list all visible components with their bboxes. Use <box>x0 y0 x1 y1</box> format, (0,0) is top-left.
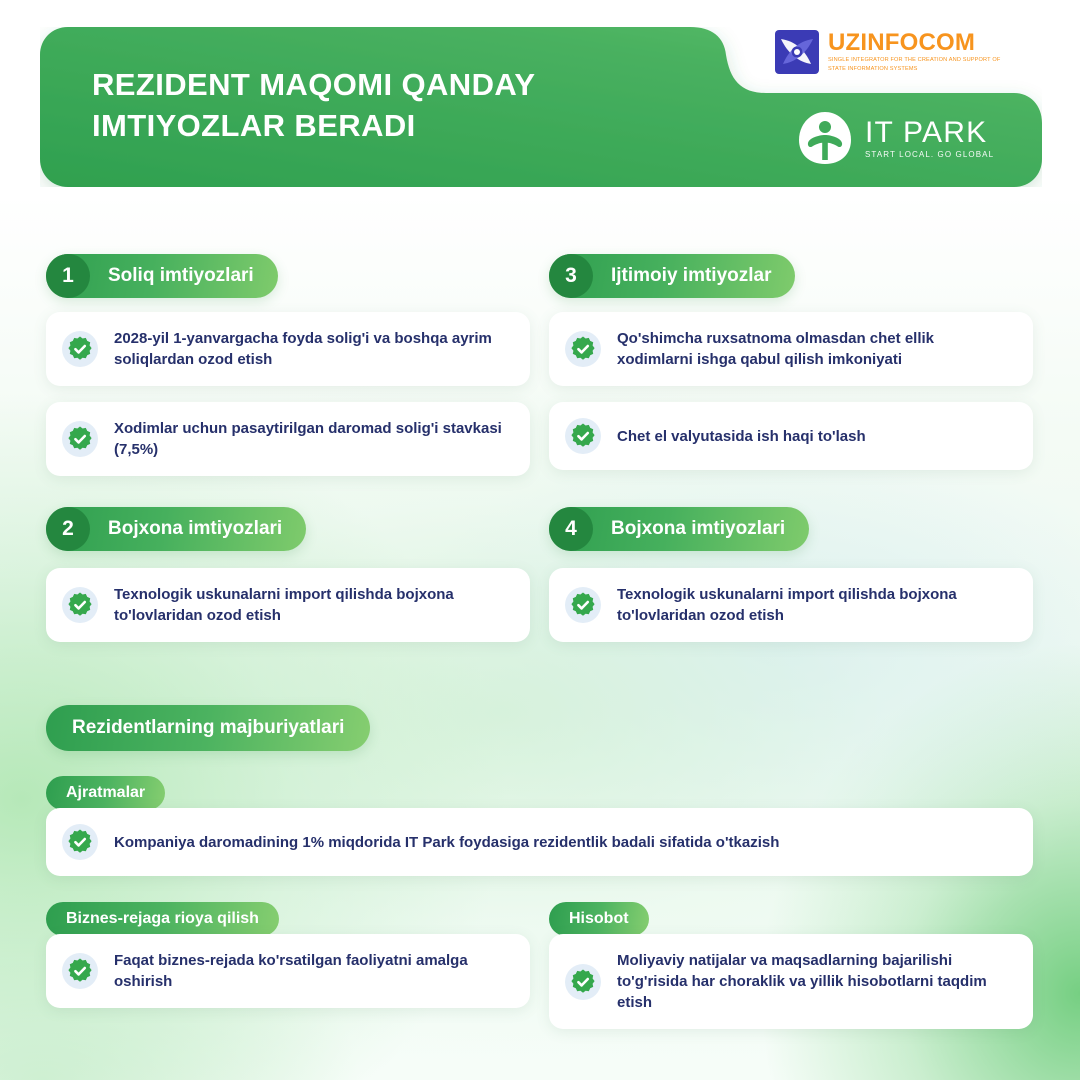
itpark-tagline: START LOCAL. GO GLOBAL <box>865 150 994 159</box>
benefit-card-4-1[interactable]: Texnologik uskunalarni import qilishda b… <box>549 568 1033 642</box>
section-pill-4[interactable]: 4 Bojxona imtiyozlari <box>549 507 809 551</box>
benefit-item-text: Chet el valyutasida ish haqi to'lash <box>617 426 866 447</box>
itpark-logo: IT PARK START LOCAL. GO GLOBAL <box>797 110 994 166</box>
obligation-group-1-label[interactable]: Ajratmalar <box>46 776 165 810</box>
benefit-item-text: Texnologik uskunalarni import qilishda b… <box>617 584 1013 626</box>
uzinfocom-logo: UZINFOCOM SINGLE INTEGRATOR FOR THE CREA… <box>775 30 1003 74</box>
obligation-group-3-label[interactable]: Hisobot <box>549 902 649 936</box>
obligation-item-text: Moliyaviy natijalar va maqsadlarning baj… <box>617 950 1013 1013</box>
benefit-item-text: Xodimlar uchun pasaytirilgan daromad sol… <box>114 418 510 460</box>
check-badge-icon <box>62 421 98 457</box>
benefit-section-1-header: 1 Soliq imtiyozlari <box>46 254 530 298</box>
benefit-section-4-header: 4 Bojxona imtiyozlari <box>549 507 1033 551</box>
itpark-mark-icon <box>797 110 853 166</box>
benefit-card-3-2[interactable]: Chet el valyutasida ish haqi to'lash <box>549 402 1033 470</box>
section-pill-1[interactable]: 1 Soliq imtiyozlari <box>46 254 278 298</box>
section-pill-2[interactable]: 2 Bojxona imtiyozlari <box>46 507 306 551</box>
check-badge-icon <box>565 587 601 623</box>
itpark-wordmark: IT PARK <box>865 117 994 149</box>
benefit-item-text: Texnologik uskunalarni import qilishda b… <box>114 584 510 626</box>
obligations-heading[interactable]: Rezidentlarning majburiyatlari <box>46 705 370 751</box>
benefit-card-2-1[interactable]: Texnologik uskunalarni import qilishda b… <box>46 568 530 642</box>
obligation-item-text: Kompaniya daromadining 1% miqdorida IT P… <box>114 832 779 853</box>
check-badge-icon <box>62 331 98 367</box>
uzinfocom-wordmark: UZINFOCOM <box>828 31 1003 55</box>
obligation-group-3-label-wrap: Hisobot <box>549 902 649 936</box>
section-title-1: Soliq imtiyozlari <box>90 265 254 287</box>
benefit-item-text: 2028-yil 1-yanvargacha foyda solig'i va … <box>114 328 510 370</box>
uzinfocom-mark-icon <box>775 30 819 74</box>
benefit-card-1-2[interactable]: Xodimlar uchun pasaytirilgan daromad sol… <box>46 402 530 476</box>
check-badge-icon <box>565 331 601 367</box>
section-title-4: Bojxona imtiyozlari <box>593 518 785 540</box>
obligations-heading-wrap: Rezidentlarning majburiyatlari <box>46 705 370 751</box>
obligation-group-2-label-wrap: Biznes-rejaga rioya qilish <box>46 902 279 936</box>
obligation-card-2[interactable]: Faqat biznes-rejada ko'rsatilgan faoliya… <box>46 934 530 1008</box>
check-badge-icon <box>565 964 601 1000</box>
benefit-section-3-header: 3 Ijtimoiy imtiyozlar <box>549 254 1033 298</box>
section-title-3: Ijtimoiy imtiyozlar <box>593 265 771 287</box>
section-number-2: 2 <box>46 507 90 551</box>
obligation-group-2-label[interactable]: Biznes-rejaga rioya qilish <box>46 902 279 936</box>
section-title-2: Bojxona imtiyozlari <box>90 518 282 540</box>
benefit-section-2-header: 2 Bojxona imtiyozlari <box>46 507 530 551</box>
benefit-item-text: Qo'shimcha ruxsatnoma olmasdan chet elli… <box>617 328 1013 370</box>
check-badge-icon <box>62 953 98 989</box>
obligation-item-text: Faqat biznes-rejada ko'rsatilgan faoliya… <box>114 950 510 992</box>
obligation-card-3[interactable]: Moliyaviy natijalar va maqsadlarning baj… <box>549 934 1033 1029</box>
check-badge-icon <box>62 587 98 623</box>
check-badge-icon <box>62 824 98 860</box>
uzinfocom-tagline: SINGLE INTEGRATOR FOR THE CREATION AND S… <box>828 56 1003 72</box>
page-title-line-2: IMTIYOZLAR BERADI <box>92 106 692 147</box>
benefit-card-1-1[interactable]: 2028-yil 1-yanvargacha foyda solig'i va … <box>46 312 530 386</box>
benefit-card-3-1[interactable]: Qo'shimcha ruxsatnoma olmasdan chet elli… <box>549 312 1033 386</box>
page-title-line-1: REZIDENT MAQOMI QANDAY <box>92 65 692 106</box>
obligation-group-1-label-wrap: Ajratmalar <box>46 776 165 810</box>
obligation-card-1[interactable]: Kompaniya daromadining 1% miqdorida IT P… <box>46 808 1033 876</box>
page-title: REZIDENT MAQOMI QANDAY IMTIYOZLAR BERADI <box>92 65 692 147</box>
section-number-4: 4 <box>549 507 593 551</box>
section-pill-3[interactable]: 3 Ijtimoiy imtiyozlar <box>549 254 795 298</box>
section-number-3: 3 <box>549 254 593 298</box>
check-badge-icon <box>565 418 601 454</box>
section-number-1: 1 <box>46 254 90 298</box>
